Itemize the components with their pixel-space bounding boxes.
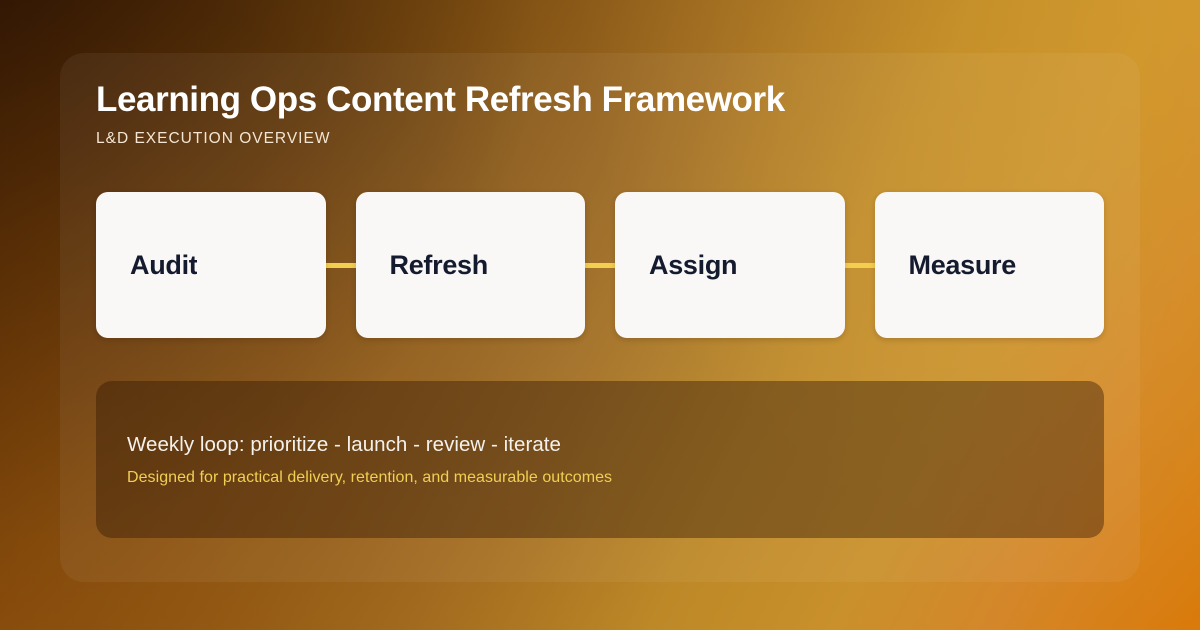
summary-note-panel: Weekly loop: prioritize - launch - revie… <box>96 381 1104 538</box>
note-secondary-text: Designed for practical delivery, retenti… <box>127 469 1104 487</box>
connector-2 <box>585 263 615 268</box>
step-card-audit[interactable]: Audit <box>96 192 326 338</box>
step-label: Refresh <box>356 250 488 281</box>
page-subtitle: L&D EXECUTION OVERVIEW <box>96 130 785 148</box>
connector-3 <box>845 263 875 268</box>
page-title: Learning Ops Content Refresh Framework <box>96 80 785 119</box>
step-label: Assign <box>615 250 737 281</box>
step-card-assign[interactable]: Assign <box>615 192 845 338</box>
step-card-measure[interactable]: Measure <box>875 192 1105 338</box>
connector-1 <box>326 263 356 268</box>
step-card-refresh[interactable]: Refresh <box>356 192 586 338</box>
step-label: Measure <box>875 250 1016 281</box>
step-label: Audit <box>96 250 197 281</box>
process-flow: Audit Refresh Assign Measure <box>96 192 1104 338</box>
content-panel: Learning Ops Content Refresh Framework L… <box>60 53 1140 582</box>
slide-canvas: Learning Ops Content Refresh Framework L… <box>0 0 1200 630</box>
note-primary-text: Weekly loop: prioritize - launch - revie… <box>127 433 1104 457</box>
header: Learning Ops Content Refresh Framework L… <box>96 80 785 148</box>
